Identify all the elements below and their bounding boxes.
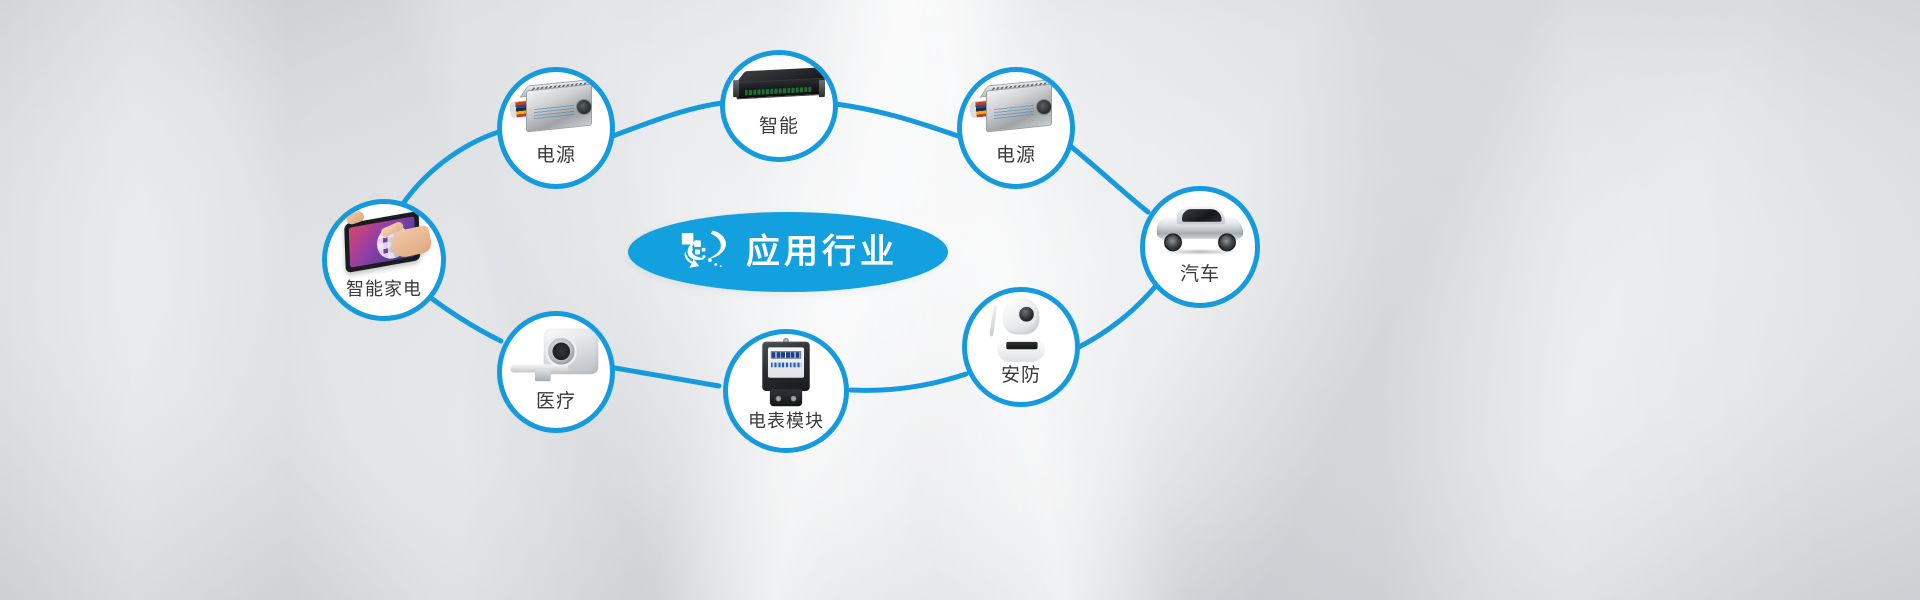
arc-automotive-security <box>1077 282 1159 348</box>
power-supply-unit-icon <box>962 72 1070 146</box>
node-label: 智能家电 <box>346 280 422 298</box>
orbit-pixel-logo-icon <box>678 228 732 276</box>
node-power-right[interactable]: 电源 <box>957 67 1075 189</box>
node-label: 电表模块 <box>748 412 824 430</box>
ip-camera-icon <box>967 292 1075 366</box>
node-power-left[interactable]: 电源 <box>497 67 615 189</box>
node-meter-module[interactable]: 电表模块 <box>723 329 849 453</box>
arc-power-right-automotive <box>1068 144 1148 212</box>
arc-power-left-intelligent <box>613 103 723 136</box>
power-supply-unit-icon <box>502 72 610 146</box>
node-label: 医疗 <box>536 392 576 411</box>
arc-intelligent-power-right <box>836 104 958 136</box>
node-label: 智能 <box>759 117 799 136</box>
node-intelligent[interactable]: 智能 <box>720 50 838 162</box>
connector-arcs <box>0 0 1920 600</box>
node-label: 安防 <box>1001 366 1041 385</box>
background-vignette <box>0 0 1920 600</box>
rack-server-icon <box>725 55 833 117</box>
sports-car-icon <box>1145 191 1255 265</box>
node-security[interactable]: 安防 <box>962 287 1080 407</box>
node-automotive[interactable]: 汽车 <box>1140 186 1260 308</box>
node-smart-home[interactable]: 智能家电 <box>322 199 446 321</box>
arc-meter-medical <box>615 368 719 386</box>
center-badge: 应用行业 <box>628 212 948 292</box>
node-label: 汽车 <box>1180 265 1220 284</box>
node-label: 电源 <box>536 146 576 165</box>
center-badge-title: 应用行业 <box>746 235 898 269</box>
node-medical[interactable]: 医疗 <box>497 311 615 433</box>
application-industries-banner: 电源 智能 电源 <box>0 0 1920 600</box>
tablet-touch-icon <box>327 204 441 280</box>
background-drape-texture <box>0 0 1920 600</box>
arc-security-meter <box>851 374 966 390</box>
ct-scanner-icon <box>502 316 610 392</box>
electricity-meter-icon <box>728 334 844 412</box>
arc-smarthome-power-left <box>402 130 505 205</box>
node-label: 电源 <box>996 146 1036 165</box>
